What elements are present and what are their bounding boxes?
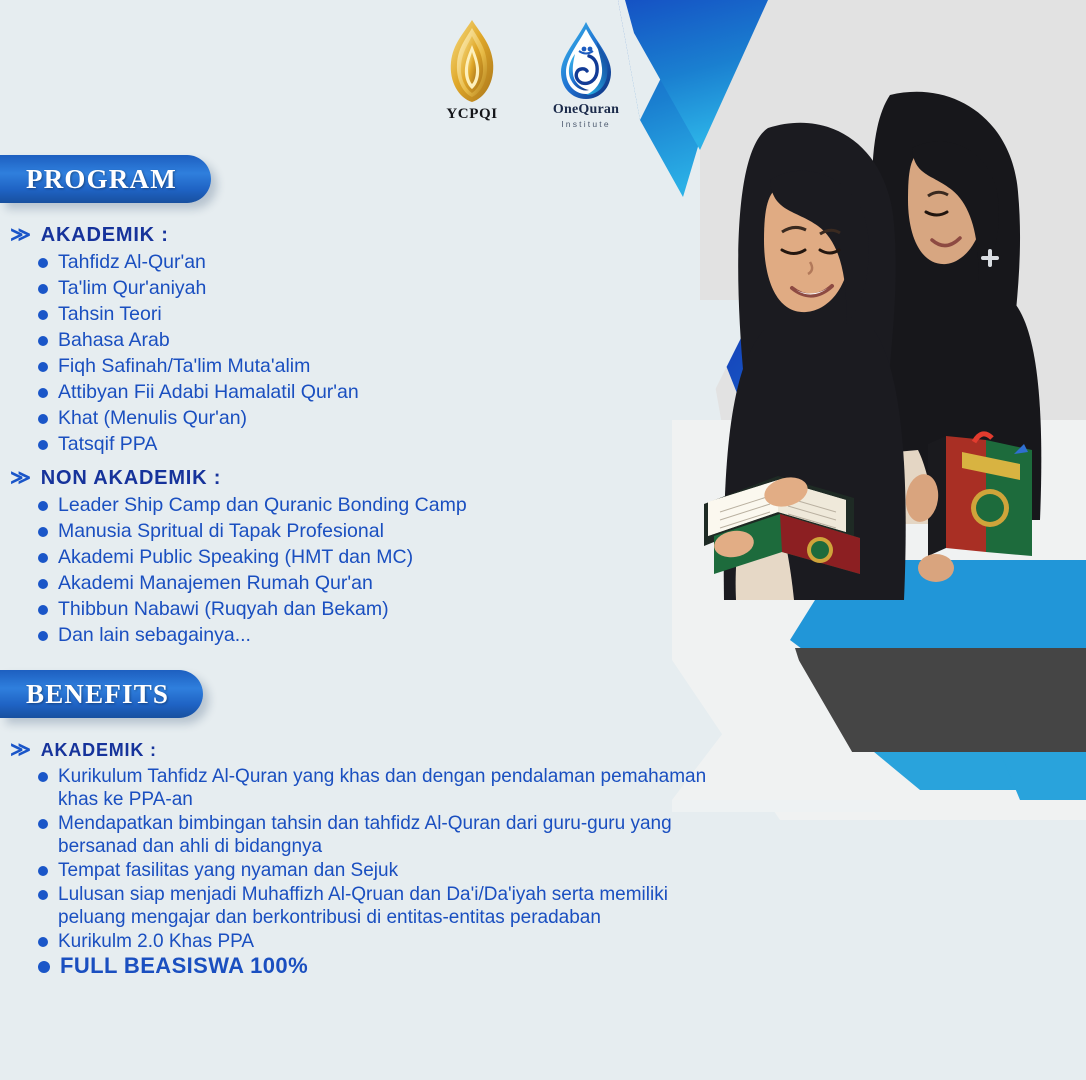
program-nonakademik-list: Leader Ship Camp dan Quranic Bonding Cam… [38, 494, 650, 648]
list-item: Tatsqif PPA [38, 433, 650, 457]
onequran-logo-caption: OneQuran [546, 102, 626, 118]
list-item-label: Thibbun Nabawi (Ruqyah dan Bekam) [58, 598, 389, 622]
benefits-badge: BENEFITS [0, 670, 203, 718]
program-nonakademik-heading-label: NON AKADEMIK : [41, 467, 221, 490]
list-item-label: Khat (Menulis Qur'an) [58, 407, 247, 431]
bullet-dot-icon [38, 501, 48, 511]
benefits-badge-label: BENEFITS [26, 679, 169, 710]
ycpqi-logo: YCPQI [432, 18, 512, 123]
benefits-section: ≫ AKADEMIK : Kurikulum Tahfidz Al-Quran … [10, 740, 730, 978]
list-item: Bahasa Arab [38, 329, 650, 353]
benefits-list: Kurikulum Tahfidz Al-Quran yang khas dan… [38, 765, 730, 977]
bullet-dot-icon [38, 527, 48, 537]
list-item-label: Tempat fasilitas yang nyaman dan Sejuk [58, 859, 398, 882]
list-item-label: Tahfidz Al-Qur'an [58, 251, 206, 275]
list-item: Lulusan siap menjadi Muhaffizh Al-Qruan … [38, 883, 730, 929]
bullet-dot-icon [38, 890, 48, 900]
bullet-dot-icon [38, 310, 48, 320]
program-badge-pill: PROGRAM [0, 155, 211, 203]
list-item-label: Akademi Public Speaking (HMT dan MC) [58, 546, 413, 570]
bullet-dot-icon [38, 258, 48, 268]
bullet-dot-icon [38, 362, 48, 372]
list-item: Akademi Public Speaking (HMT dan MC) [38, 546, 650, 570]
list-item: Kurikulum Tahfidz Al-Quran yang khas dan… [38, 765, 730, 811]
list-item: Akademi Manajemen Rumah Qur'an [38, 572, 650, 596]
list-item-label: Kurikulm 2.0 Khas PPA [58, 930, 254, 953]
logo-row: YCPQI [432, 18, 652, 143]
list-item-label: Akademi Manajemen Rumah Qur'an [58, 572, 373, 596]
list-item-label: FULL BEASISWA 100% [60, 954, 308, 977]
bullet-dot-icon [38, 961, 50, 973]
list-item: Thibbun Nabawi (Ruqyah dan Bekam) [38, 598, 650, 622]
bullet-dot-icon [38, 553, 48, 563]
list-item-label: Attibyan Fii Adabi Hamalatil Qur'an [58, 381, 359, 405]
onequran-logo: OneQuran Institute [546, 18, 626, 129]
program-akademik-heading-label: AKADEMIK : [41, 224, 169, 247]
bullet-dot-icon [38, 866, 48, 876]
program-badge-label: PROGRAM [26, 164, 177, 195]
list-item-label: Lulusan siap menjadi Muhaffizh Al-Qruan … [58, 883, 730, 929]
list-item: Dan lain sebagainya... [38, 624, 650, 648]
list-item: Tahfidz Al-Qur'an [38, 251, 650, 275]
list-item-label: Tatsqif PPA [58, 433, 157, 457]
list-item-label: Tahsin Teori [58, 303, 162, 327]
list-item: Tahsin Teori [38, 303, 650, 327]
program-akademik-heading: ≫ AKADEMIK : [10, 224, 650, 247]
bullet-dot-icon [38, 440, 48, 450]
list-item: Tempat fasilitas yang nyaman dan Sejuk [38, 859, 730, 882]
list-item: Mendapatkan bimbingan tahsin dan tahfidz… [38, 812, 730, 858]
benefits-akademik-heading-label: AKADEMIK : [41, 740, 157, 761]
program-section: ≫ AKADEMIK : Tahfidz Al-Qur'an Ta'lim Qu… [10, 224, 650, 650]
list-item: Manusia Spritual di Tapak Profesional [38, 520, 650, 544]
bullet-dot-icon [38, 605, 48, 615]
bullet-dot-icon [38, 388, 48, 398]
benefits-badge-pill: BENEFITS [0, 670, 203, 718]
water-drop-icon [546, 18, 626, 104]
program-akademik-list: Tahfidz Al-Qur'an Ta'lim Qur'aniyah Tahs… [38, 251, 650, 457]
list-item-label: Dan lain sebagainya... [58, 624, 251, 648]
students-photo [660, 0, 1086, 640]
list-item: Ta'lim Qur'aniyah [38, 277, 650, 301]
benefits-akademik-heading: ≫ AKADEMIK : [10, 740, 730, 761]
list-item-label: Mendapatkan bimbingan tahsin dan tahfidz… [58, 812, 730, 858]
list-item-label: Fiqh Safinah/Ta'lim Muta'alim [58, 355, 310, 379]
list-item-label: Bahasa Arab [58, 329, 170, 353]
program-nonakademik-heading: ≫ NON AKADEMIK : [10, 467, 650, 490]
bullet-dot-icon [38, 772, 48, 782]
list-item-label: Manusia Spritual di Tapak Profesional [58, 520, 384, 544]
list-item-label: Kurikulum Tahfidz Al-Quran yang khas dan… [58, 765, 730, 811]
photo-illustration [660, 0, 1086, 640]
list-item: Leader Ship Camp dan Quranic Bonding Cam… [38, 494, 650, 518]
bullet-dot-icon [38, 414, 48, 424]
list-item-label: Ta'lim Qur'aniyah [58, 277, 206, 301]
list-item-highlight: FULL BEASISWA 100% [38, 954, 730, 977]
chevron-marker-icon: ≫ [10, 468, 32, 488]
program-badge: PROGRAM [0, 155, 211, 203]
bullet-dot-icon [38, 579, 48, 589]
bullet-dot-icon [38, 336, 48, 346]
list-item: Attibyan Fii Adabi Hamalatil Qur'an [38, 381, 650, 405]
flame-icon [432, 18, 512, 104]
bullet-dot-icon [38, 937, 48, 947]
list-item: Kurikulm 2.0 Khas PPA [38, 930, 730, 953]
onequran-logo-subcaption: Institute [546, 119, 626, 129]
bullet-dot-icon [38, 819, 48, 829]
bullet-dot-icon [38, 631, 48, 641]
list-item-label: Leader Ship Camp dan Quranic Bonding Cam… [58, 494, 467, 518]
poster-canvas: YCPQI [0, 0, 1086, 1080]
ycpqi-logo-caption: YCPQI [432, 106, 512, 123]
chevron-marker-icon: ≫ [10, 740, 32, 760]
list-item: Khat (Menulis Qur'an) [38, 407, 650, 431]
chevron-marker-icon: ≫ [10, 225, 32, 245]
bullet-dot-icon [38, 284, 48, 294]
list-item: Fiqh Safinah/Ta'lim Muta'alim [38, 355, 650, 379]
